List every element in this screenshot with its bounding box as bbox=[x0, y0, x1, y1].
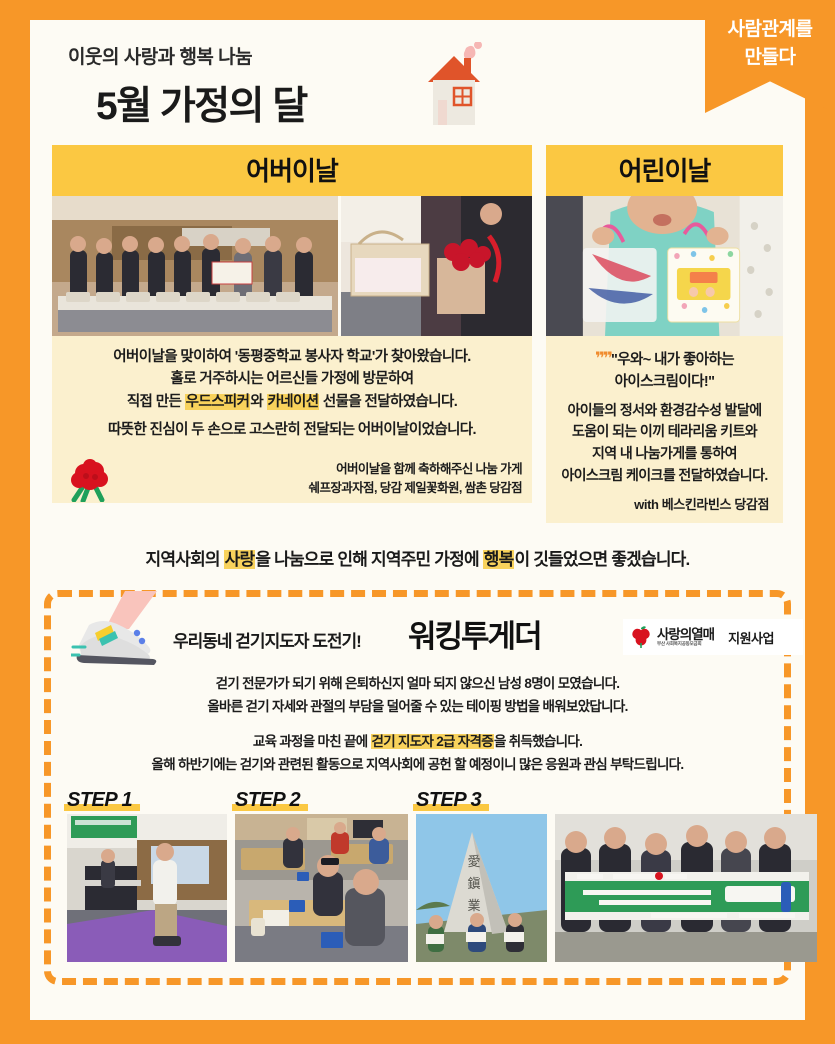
step-1-label: STEP 1 bbox=[67, 789, 132, 812]
walking-body-line-3: 교육 과정을 마친 끝에 걷기 지도자 2급 자격증을 취득했습니다. bbox=[63, 731, 772, 754]
walking-header: 우리동네 걷기지도자 도전기! 워킹투게더 사랑의열매 부산 사회복지공동모금회… bbox=[63, 607, 772, 669]
quote-line-2-row: 아이스크림이다!" bbox=[554, 372, 775, 394]
closing-mid: 을 나눔으로 인해 지역주민 가정에 bbox=[255, 550, 482, 569]
children-day-body-1: 아이들의 정서와 환경감수성 발달에 bbox=[554, 400, 775, 422]
children-day-panel: 어린이날 bbox=[546, 145, 783, 523]
community-chest-fruit-icon bbox=[631, 625, 651, 649]
walking-shoe-icon bbox=[71, 589, 167, 667]
sponsor-support-label: 지원사업 bbox=[728, 628, 774, 647]
children-day-text-box: ❞❞"우와~ 내가 좋아하는 아이스크림이다!" 아이들의 정서와 환경감수성 … bbox=[546, 336, 783, 523]
svg-text:愛: 愛 bbox=[467, 855, 480, 870]
walking-together-section: 우리동네 걷기지도자 도전기! 워킹투게더 사랑의열매 부산 사회복지공동모금회… bbox=[44, 590, 791, 985]
pd-pre: 직접 만든 bbox=[127, 394, 185, 410]
pd-highlight-1: 우드스피커 bbox=[185, 394, 251, 410]
group-photo bbox=[555, 814, 817, 962]
poster-header: 이웃의 사랑과 행복 나눔 5월 가정의 달 사람관계를 만들다 bbox=[30, 20, 805, 145]
header-text-block: 이웃의 사랑과 행복 나눔 5월 가정의 달 bbox=[30, 20, 805, 131]
closing-highlight-2: 행복 bbox=[483, 550, 515, 569]
svg-text:業: 業 bbox=[467, 898, 480, 914]
walking-body-line-4: 올해 하반기에는 걷기와 관련된 활동으로 지역사회에 공헌 할 예정이니 많은… bbox=[63, 754, 772, 777]
step-2-photo bbox=[235, 814, 408, 962]
parents-day-credit: 어버이날을 함께 축하해주신 나눔 가게 쉐프장과자점, 당감 제일꽃화원, 쌈… bbox=[52, 452, 532, 504]
ribbon-line-1: 사람관계를 bbox=[705, 16, 835, 44]
closing-post: 이 깃들었으면 좋겠습니다. bbox=[514, 550, 689, 569]
svg-text:鎭: 鎭 bbox=[467, 877, 480, 892]
carnation-icon bbox=[68, 458, 116, 502]
sponsor-logo-badge: 사랑의열매 부산 사회복지공동모금회 지원사업 bbox=[623, 619, 803, 655]
children-day-photo bbox=[546, 196, 783, 336]
sponsor-logo-text: 사랑의열매 부산 사회복지공동모금회 bbox=[657, 628, 714, 646]
walking-subtitle: 우리동네 걷기지도자 도전기! bbox=[173, 627, 361, 652]
credit-line-2: 쉐프장과자점, 당감 제일꽃화원, 쌈촌 당감점 bbox=[62, 479, 522, 498]
ribbon-line-2: 만들다 bbox=[705, 44, 835, 72]
children-day-title: 어린이날 bbox=[546, 145, 783, 196]
sponsor-sub: 부산 사회복지공동모금회 bbox=[657, 642, 714, 647]
parents-day-title: 어버이날 bbox=[52, 145, 532, 196]
closing-highlight-1: 사랑 bbox=[224, 550, 256, 569]
walking-title: 워킹투게더 bbox=[408, 611, 541, 656]
children-day-body-3: 지역 내 나눔가게를 통하여 bbox=[554, 443, 775, 465]
pd-post: 선물을 전달하였습니다. bbox=[319, 394, 457, 410]
children-day-body-4: 아이스크림 케이크를 전달하였습니다. bbox=[554, 465, 775, 487]
step-2: STEP 2 bbox=[235, 789, 408, 962]
step-1: STEP 1 bbox=[67, 789, 227, 962]
credit-line-1: 어버이날을 함께 축하해주신 나눔 가게 bbox=[62, 460, 522, 479]
quote-line-1: "우와~ 내가 좋아하는 bbox=[611, 352, 734, 368]
sponsor-name: 사랑의열매 bbox=[657, 628, 714, 642]
children-day-body-2: 도움이 되는 이끼 테라리움 키트와 bbox=[554, 421, 775, 443]
house-icon bbox=[420, 42, 500, 132]
pd-mid: 와 bbox=[250, 394, 266, 410]
events-columns: 어버이날 bbox=[30, 145, 805, 523]
walking-body: 걷기 전문가가 되기 위해 은퇴하신지 얼마 되지 않으신 남성 8명이 모였습… bbox=[63, 669, 772, 777]
wk-post: 을 취득했습니다. bbox=[494, 734, 582, 749]
step-3-label: STEP 3 bbox=[416, 789, 481, 812]
quote-line-2: 아이스크림이다!" bbox=[615, 374, 715, 390]
parents-day-body-line-4: 따뜻한 진심이 두 손으로 고스란히 전달되는 어버이날이었습니다. bbox=[60, 419, 524, 441]
pd-highlight-2: 카네이션 bbox=[267, 394, 320, 410]
step-1-photo bbox=[67, 814, 227, 962]
wk-highlight: 걷기 지도자 2급 자격증 bbox=[371, 734, 494, 749]
step-3-photo: 愛鎭業 bbox=[416, 814, 547, 962]
parents-day-credit-text: 어버이날을 함께 축하해주신 나눔 가게 쉐프장과자점, 당감 제일꽃화원, 쌈… bbox=[62, 460, 522, 498]
closing-statement: 지역사회의 사랑을 나눔으로 인해 지역주민 가정에 행복이 깃들었으면 좋겠습… bbox=[30, 523, 805, 584]
walking-body-line-1: 걷기 전문가가 되기 위해 은퇴하신지 얼마 되지 않으신 남성 8명이 모였습… bbox=[63, 673, 772, 696]
step-3: STEP 3 愛鎭業 bbox=[416, 789, 547, 962]
children-day-with-line: with 베스킨라빈스 당감점 bbox=[554, 486, 775, 513]
quote-mark-icon: ❞❞ bbox=[595, 349, 611, 368]
poster-card: 이웃의 사랑과 행복 나눔 5월 가정의 달 사람관계를 만들다 어버이날 bbox=[30, 20, 805, 1020]
children-day-quote: ❞❞"우와~ 내가 좋아하는 bbox=[554, 346, 775, 372]
parents-day-body-line-2: 홀로 거주하시는 어르신들 가정에 방문하여 bbox=[60, 368, 524, 390]
closing-pre: 지역사회의 bbox=[146, 550, 224, 569]
step-2-label: STEP 2 bbox=[235, 789, 300, 812]
parents-day-panel: 어버이날 bbox=[52, 145, 532, 523]
group-photo-col: [422에서 65까지 지구별이야기] 환경걷기대회 참여 bbox=[555, 792, 817, 962]
parents-day-body-line-1: 어버이날을 맞이하여 '동평중학교 봉사자 학교'가 찾아왔습니다. bbox=[60, 346, 524, 368]
parents-day-text-box: 어버이날을 맞이하여 '동평중학교 봉사자 학교'가 찾아왔습니다. 홀로 거주… bbox=[52, 336, 532, 452]
parents-day-photo-1 bbox=[52, 196, 338, 336]
parents-day-photo-2 bbox=[341, 196, 532, 336]
parents-day-photo-row bbox=[52, 196, 532, 336]
steps-row: STEP 1 bbox=[63, 777, 772, 962]
wk-pre: 교육 과정을 마친 끝에 bbox=[253, 734, 371, 749]
walking-body-line-2: 올바른 걷기 자세와 관절의 부담을 덜어줄 수 있는 테이핑 방법을 배워보았… bbox=[63, 696, 772, 719]
parents-day-body-line-3: 직접 만든 우드스피커와 카네이션 선물을 전달하였습니다. bbox=[60, 391, 524, 413]
